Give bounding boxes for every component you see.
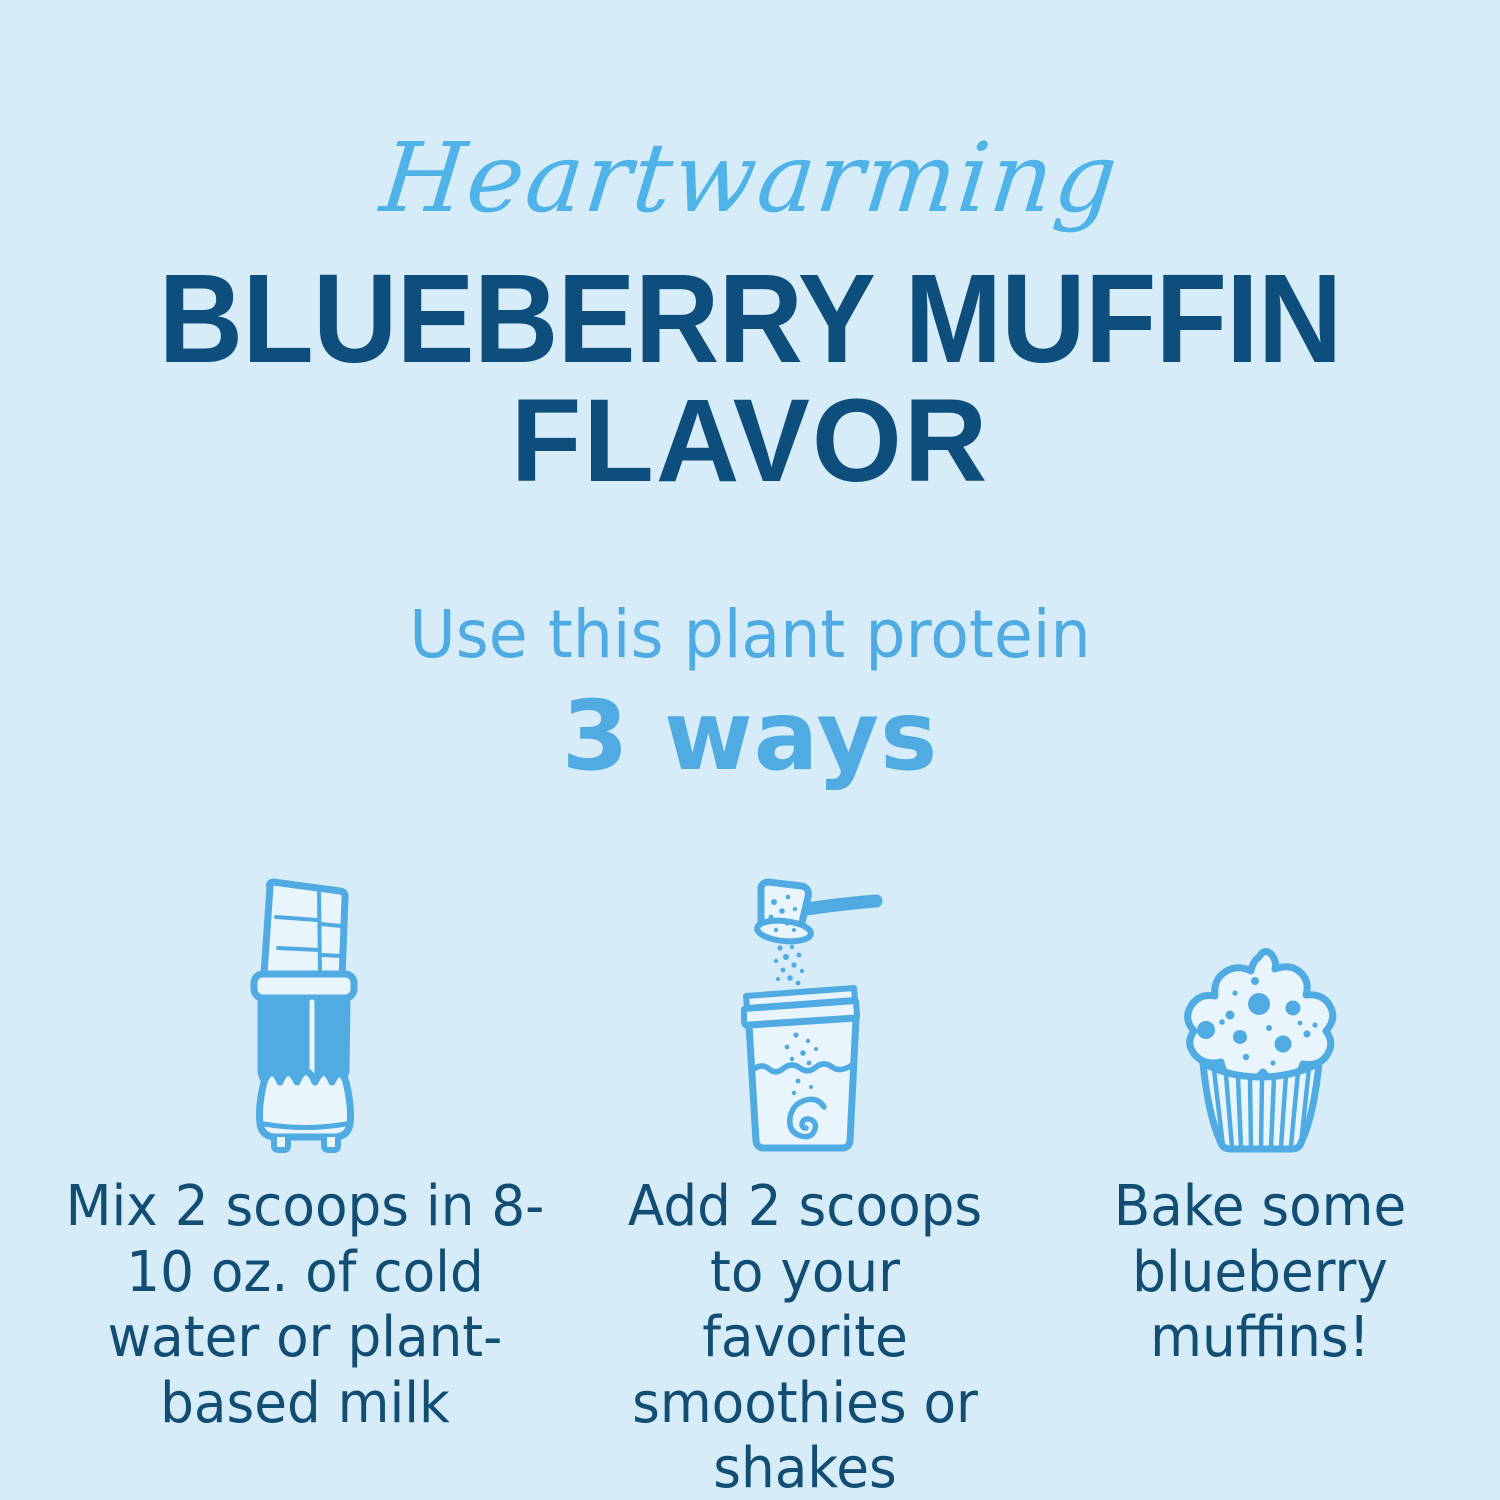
promo-poster: Heartwarming BLUEBERRY MUFFIN FLAVOR Use… [0, 0, 1500, 1500]
way-caption-1: Mix 2 scoops in 8-10 oz. of cold water o… [58, 1174, 552, 1436]
ways-columns: Mix 2 scoops in 8-10 oz. of cold water o… [0, 870, 1500, 1430]
way-caption-3: Bake some blueberry muffins! [1094, 1174, 1427, 1371]
way-caption-2: Add 2 scoops to your favorite smoothies … [601, 1174, 1010, 1500]
blueberry-muffin-icon [1173, 870, 1348, 1160]
subheading-line-1: Use this plant protein [30, 600, 1470, 669]
way-column-1: Mix 2 scoops in 8-10 oz. of cold water o… [25, 870, 585, 1436]
shaker-bottle-with-scoop-icon [708, 870, 903, 1160]
headline-line-1: BLUEBERRY MUFFIN [53, 256, 1448, 382]
script-eyebrow-text: Heartwarming [0, 128, 1500, 229]
headline-line-2: FLAVOR [15, 382, 1485, 500]
subheading-line-2: 3 ways [0, 688, 1500, 784]
way-column-3: Bake some blueberry muffins! [1050, 870, 1470, 1371]
blender-icon [220, 870, 390, 1160]
way-column-2: Add 2 scoops to your favorite smoothies … [595, 870, 1015, 1500]
